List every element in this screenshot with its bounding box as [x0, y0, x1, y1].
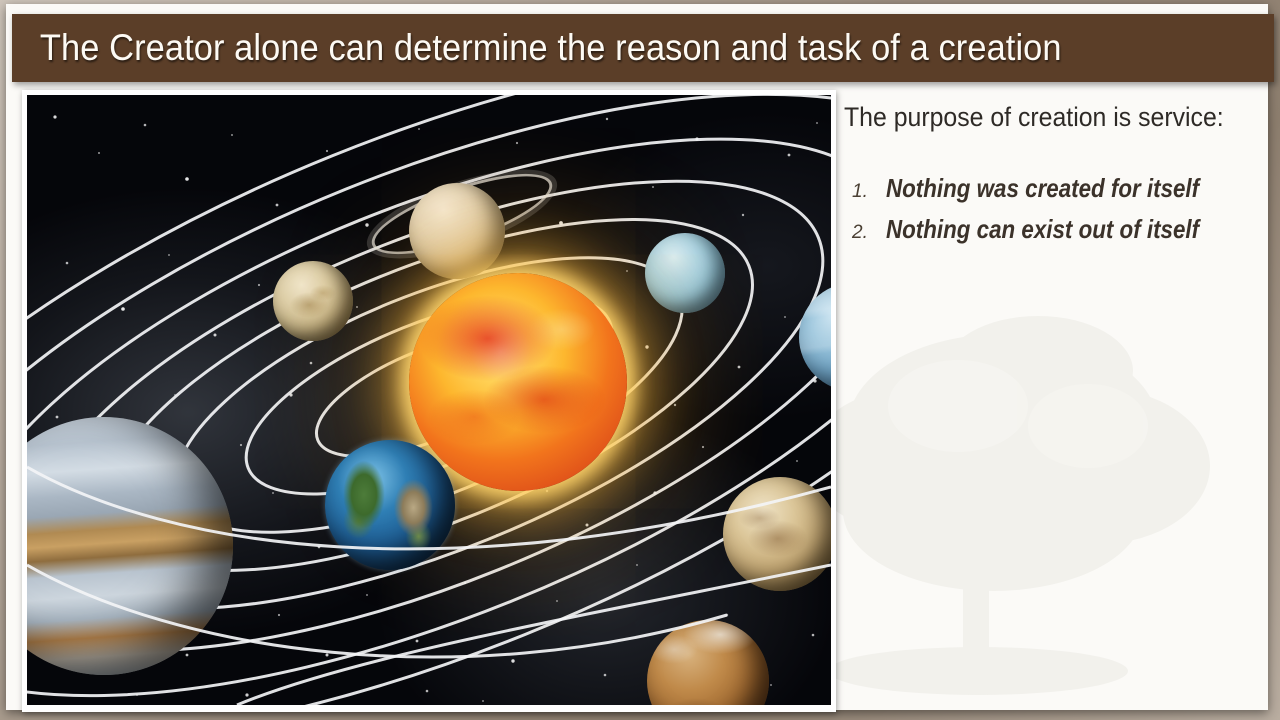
numbered-list: 1. Nothing was created for itself 2. Not…	[842, 173, 1266, 245]
list-item: 2. Nothing can exist out of itself	[842, 214, 1266, 245]
list-item-number: 1.	[842, 181, 886, 203]
list-item-number: 2.	[842, 222, 886, 244]
list-item-label: Nothing can exist out of itself	[886, 214, 1199, 245]
list-item: 1. Nothing was created for itself	[842, 173, 1266, 204]
solar-system-illustration	[27, 95, 831, 705]
slide-surface: The Creator alone can determine the reas…	[6, 4, 1268, 710]
text-column: The purpose of creation is service: 1. N…	[842, 94, 1266, 706]
list-item-label: Nothing was created for itself	[886, 173, 1199, 204]
illustration-frame	[22, 90, 836, 712]
slide-title-band: The Creator alone can determine the reas…	[12, 14, 1274, 82]
page-title: The Creator alone can determine the reas…	[12, 27, 1062, 69]
lead-line: The purpose of creation is service:	[844, 102, 1232, 133]
slide-root: The Creator alone can determine the reas…	[0, 0, 1280, 720]
orbit-lines-foreground	[27, 95, 831, 705]
